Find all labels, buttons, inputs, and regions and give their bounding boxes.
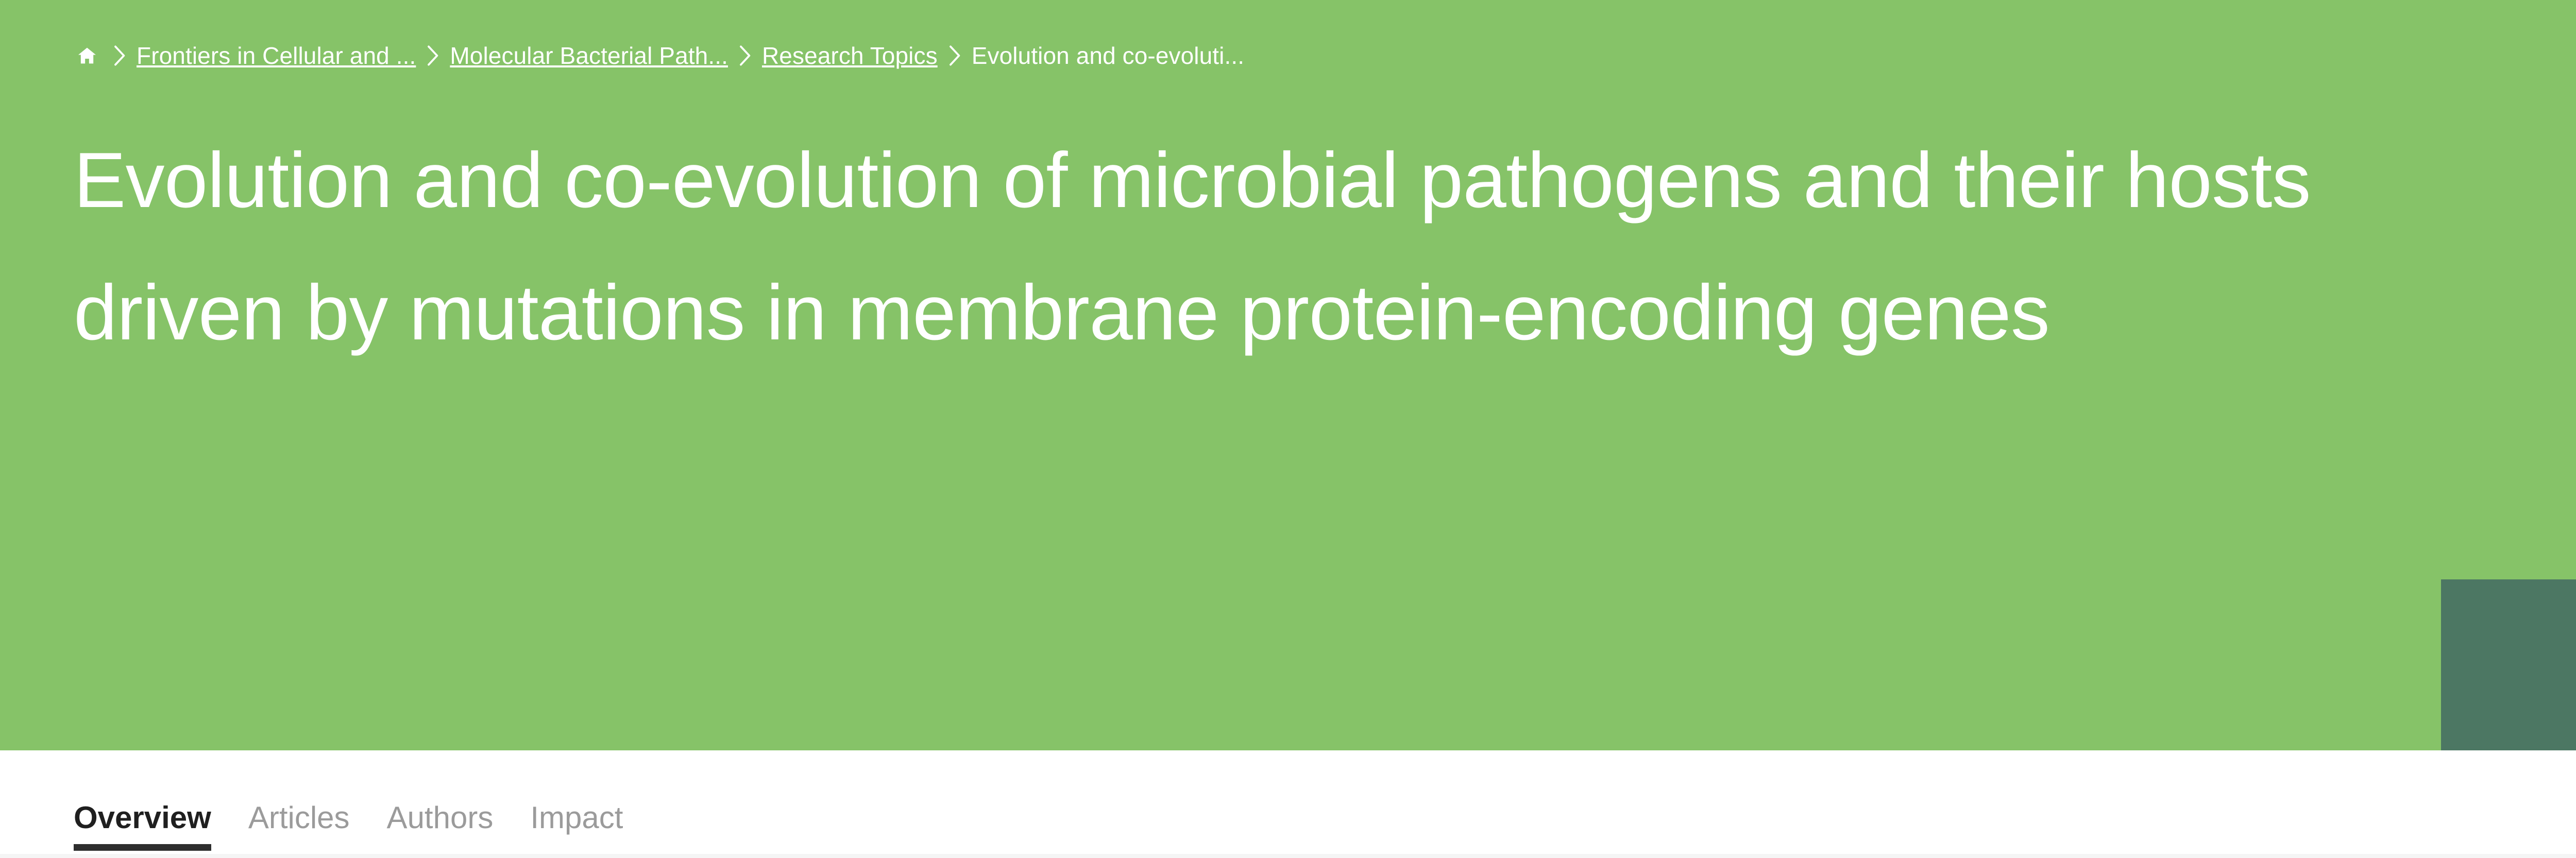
- chevron-right-icon: [938, 42, 972, 69]
- breadcrumb-item-section[interactable]: Molecular Bacterial Path...: [450, 42, 728, 69]
- tab-overview-label: Overview: [74, 800, 211, 835]
- tab-authors[interactable]: Authors: [387, 799, 494, 851]
- breadcrumb-item-journal[interactable]: Frontiers in Cellular and ...: [137, 42, 416, 69]
- breadcrumb-item-current: Evolution and co-evoluti...: [972, 42, 1244, 69]
- breadcrumb: Frontiers in Cellular and ... Molecular …: [74, 40, 1244, 71]
- home-icon[interactable]: [74, 42, 100, 69]
- hero-banner: Frontiers in Cellular and ... Molecular …: [0, 0, 2576, 750]
- page-title: Evolution and co-evolution of microbial …: [74, 114, 2495, 379]
- chevron-right-icon: [416, 42, 450, 69]
- tab-impact[interactable]: Impact: [530, 799, 623, 851]
- tab-articles[interactable]: Articles: [248, 799, 350, 851]
- tab-overview[interactable]: Overview: [74, 799, 211, 851]
- tab-authors-label: Authors: [387, 800, 494, 835]
- chevron-right-icon: [728, 42, 762, 69]
- participate-in-topic-button[interactable]: Participate in this topic: [2441, 579, 2576, 750]
- topic-tabbar: Overview Articles Authors Impact: [0, 750, 2576, 858]
- tab-articles-label: Articles: [248, 800, 350, 835]
- breadcrumb-item-research-topics[interactable]: Research Topics: [762, 42, 938, 69]
- tab-impact-label: Impact: [530, 800, 623, 835]
- tabbar-divider: [0, 854, 2576, 858]
- research-topic-page: Frontiers in Cellular and ... Molecular …: [0, 0, 2576, 858]
- tab-list: Overview Articles Authors Impact: [74, 799, 623, 851]
- chevron-right-icon: [103, 42, 137, 69]
